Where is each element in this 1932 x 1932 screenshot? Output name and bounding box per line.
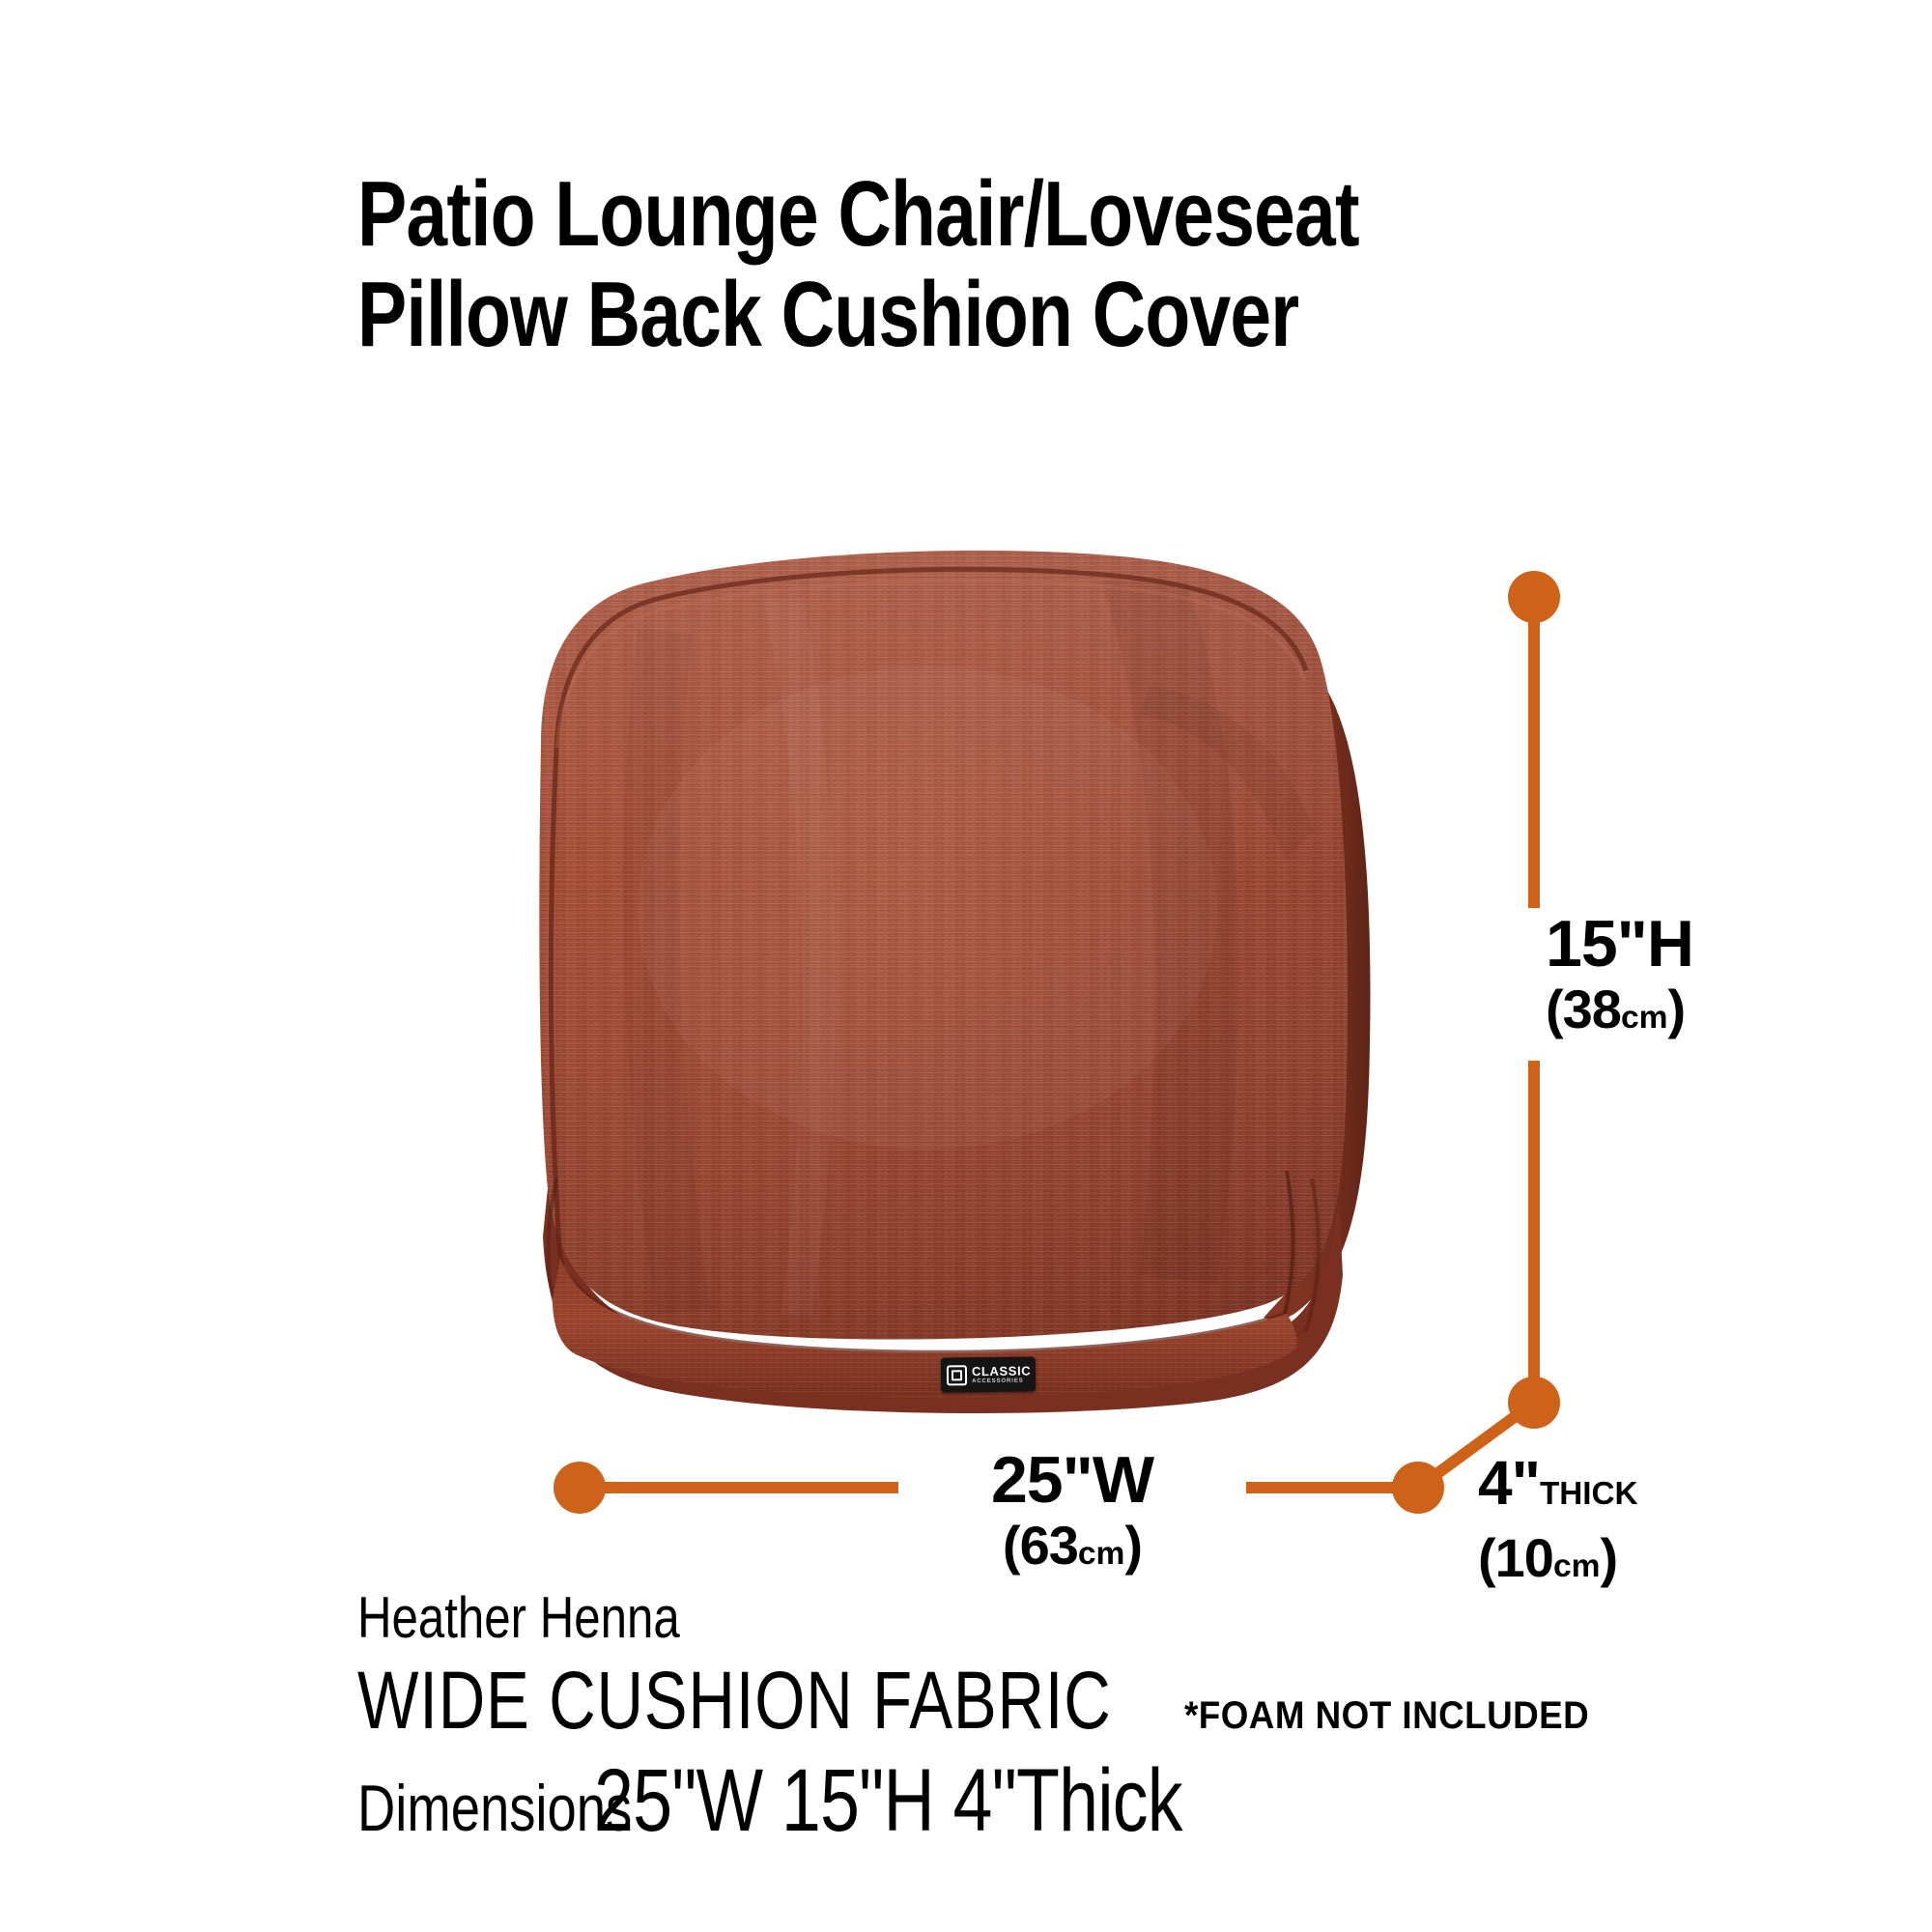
height-dimension-label: 15"H (38cm) <box>1546 908 1777 1048</box>
height-dot-top <box>1508 571 1560 623</box>
thickness-dimension-label: 4"THICK (10cm) <box>1478 1449 1806 1597</box>
brand-name: CLASSIC <box>972 1365 1031 1378</box>
height-metric-unit: cm <box>1621 1000 1668 1036</box>
product-infographic: Patio Lounge Chair/Loveseat Pillow Back … <box>0 0 1932 1932</box>
width-metric-value: 63 <box>1020 1515 1078 1576</box>
dimensions-values: 25"W 15"H 4"Thick <box>594 1750 1182 1852</box>
cushion-illustration <box>522 541 1410 1391</box>
thickness-imperial-value: 4" <box>1478 1448 1540 1518</box>
width-imperial: 25"W <box>898 1444 1246 1516</box>
height-dot-bottom <box>1508 1377 1560 1429</box>
height-metric: (38cm) <box>1546 980 1777 1048</box>
width-dimension-label: 25"W (63cm) <box>898 1444 1246 1584</box>
classic-accessories-logo-icon <box>947 1365 967 1385</box>
dimensions-row: Dimensions 25"W 15"H 4"Thick <box>357 1750 1329 1852</box>
thickness-imperial: 4"THICK <box>1478 1449 1806 1528</box>
thickness-imperial-unit: THICK <box>1540 1476 1638 1512</box>
cushion-image: CLASSIC ACCESSORIES <box>522 541 1410 1391</box>
width-metric: (63cm) <box>898 1516 1246 1584</box>
width-dot-left <box>554 1462 606 1514</box>
brand-tag: CLASSIC ACCESSORIES <box>941 1356 1036 1392</box>
thickness-metric: (10cm) <box>1478 1528 1806 1597</box>
dimensions-word: Dimensions <box>357 1771 632 1846</box>
height-imperial: 15"H <box>1546 908 1777 980</box>
cushion-body <box>522 541 1410 1391</box>
thickness-metric-value: 10 <box>1495 1527 1553 1588</box>
fabric-label: WIDE CUSHION FABRIC <box>357 1654 1112 1747</box>
thickness-metric-unit: cm <box>1553 1548 1601 1584</box>
color-name: Heather Henna <box>357 1584 680 1651</box>
page-title: Patio Lounge Chair/Loveseat Pillow Back … <box>357 164 1378 365</box>
brand-tag-text: CLASSIC ACCESSORIES <box>972 1365 1031 1385</box>
fabric-row: WIDE CUSHION FABRIC *FOAM NOT INCLUDED <box>357 1654 1624 1747</box>
width-metric-unit: cm <box>1078 1536 1125 1572</box>
brand-subname: ACCESSORIES <box>972 1378 1031 1385</box>
width-dot-right <box>1392 1462 1444 1514</box>
height-metric-value: 38 <box>1563 979 1621 1039</box>
foam-not-included-note: *FOAM NOT INCLUDED <box>1184 1694 1589 1738</box>
